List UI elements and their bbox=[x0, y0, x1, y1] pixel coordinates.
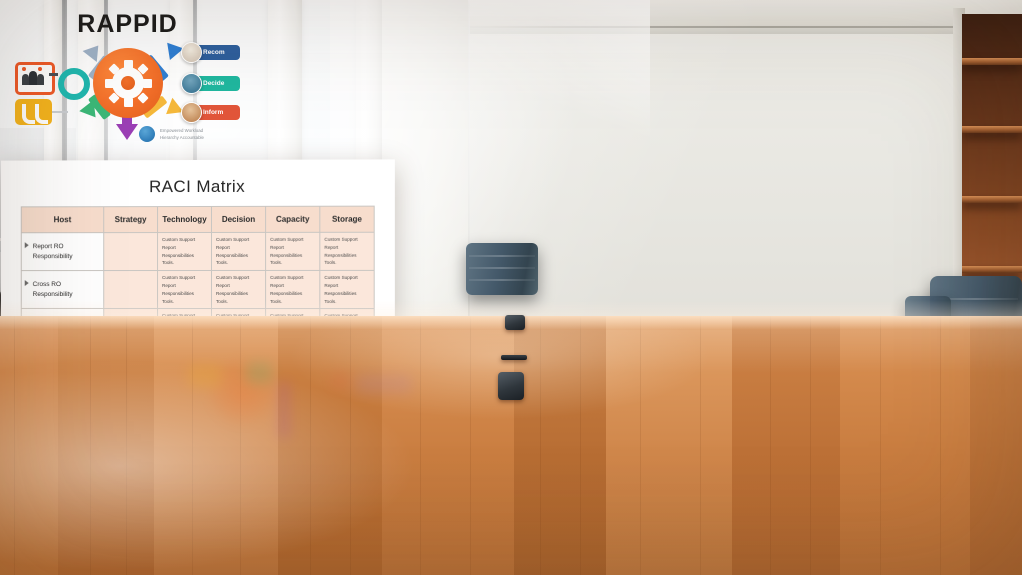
raci-cell: Custom Support ReportResponsibilities To… bbox=[320, 232, 374, 270]
presentation-screen-icon bbox=[15, 62, 55, 95]
badge-label: Decide bbox=[203, 80, 224, 87]
raci-cell: Custom Support ReportResponsibilities To… bbox=[266, 232, 320, 270]
screen-stand bbox=[49, 73, 58, 76]
triangle-bullet-icon bbox=[25, 242, 29, 248]
triangle-bullet-icon bbox=[25, 280, 29, 286]
rappid-title: RAPPID bbox=[0, 10, 255, 39]
raci-col-host: Host bbox=[21, 207, 103, 233]
chair-center bbox=[466, 243, 538, 295]
device-remote-1[interactable] bbox=[505, 315, 525, 330]
gear-center-hole bbox=[121, 76, 135, 90]
device-remote-2[interactable] bbox=[501, 355, 527, 360]
ring-icon bbox=[58, 68, 90, 100]
raci-col-technology: Technology bbox=[158, 206, 212, 232]
connector-line bbox=[52, 111, 68, 113]
raci-col-storage: Storage bbox=[320, 206, 374, 232]
shelf bbox=[962, 126, 1022, 133]
shelf bbox=[962, 266, 1022, 273]
avatar-recom bbox=[181, 42, 202, 63]
raci-title: RACI Matrix bbox=[1, 176, 395, 197]
raci-col-strategy: Strategy bbox=[104, 207, 158, 233]
raci-cell: Custom Support ReportResponsibilities To… bbox=[212, 232, 266, 270]
circular-blue-logo bbox=[139, 126, 155, 142]
shelf bbox=[962, 196, 1022, 203]
badge-label: Inform bbox=[203, 109, 223, 116]
gear-tooth bbox=[124, 98, 133, 107]
gear-tooth bbox=[124, 60, 133, 69]
gear-tooth bbox=[143, 79, 152, 88]
raci-row-label: Report ROResponsibility bbox=[21, 233, 103, 271]
avatar-inform bbox=[181, 102, 202, 123]
gear-tooth bbox=[105, 79, 114, 88]
raci-header-row: Host Strategy Technology Decision Capaci… bbox=[21, 206, 374, 233]
conference-room-scene: RAPPID bbox=[0, 0, 1022, 575]
shelf bbox=[962, 58, 1022, 65]
slide-reflection bbox=[170, 330, 460, 450]
table-row: Report ROResponsibilityCustom Support Re… bbox=[21, 232, 374, 271]
arrow-down-head bbox=[116, 124, 138, 140]
raci-cell: Custom Support ReportResponsibilities To… bbox=[158, 232, 212, 270]
device-phone[interactable] bbox=[498, 372, 524, 400]
quote-icon bbox=[15, 99, 52, 125]
avatar-decide bbox=[181, 73, 202, 94]
raci-col-decision: Decision bbox=[212, 206, 266, 232]
raci-cell-empty bbox=[104, 233, 158, 271]
rappid-footnote-line2: Hierarchy Accountable bbox=[160, 134, 204, 141]
raci-col-capacity: Capacity bbox=[266, 206, 320, 232]
badge-label: Recom bbox=[203, 49, 225, 56]
